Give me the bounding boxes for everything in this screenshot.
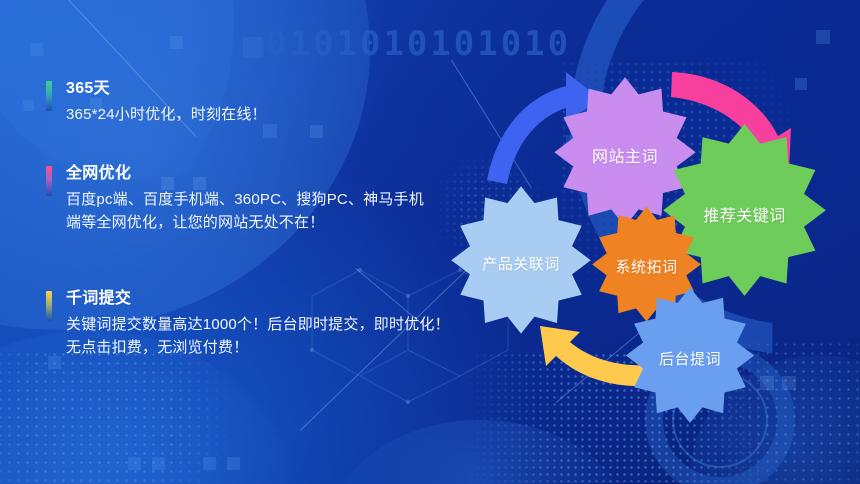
gear-label: 产品关联词 xyxy=(446,188,596,344)
gear-product-related[interactable]: 产品关联词 xyxy=(446,188,596,338)
gear-backend-prompt[interactable]: 后台提词 xyxy=(621,289,759,427)
gear-label: 后台提词 xyxy=(621,289,759,451)
slide-canvas: 0101010101010 365天 365*24小时优化，时刻在线！ 全网优化… xyxy=(0,0,860,484)
